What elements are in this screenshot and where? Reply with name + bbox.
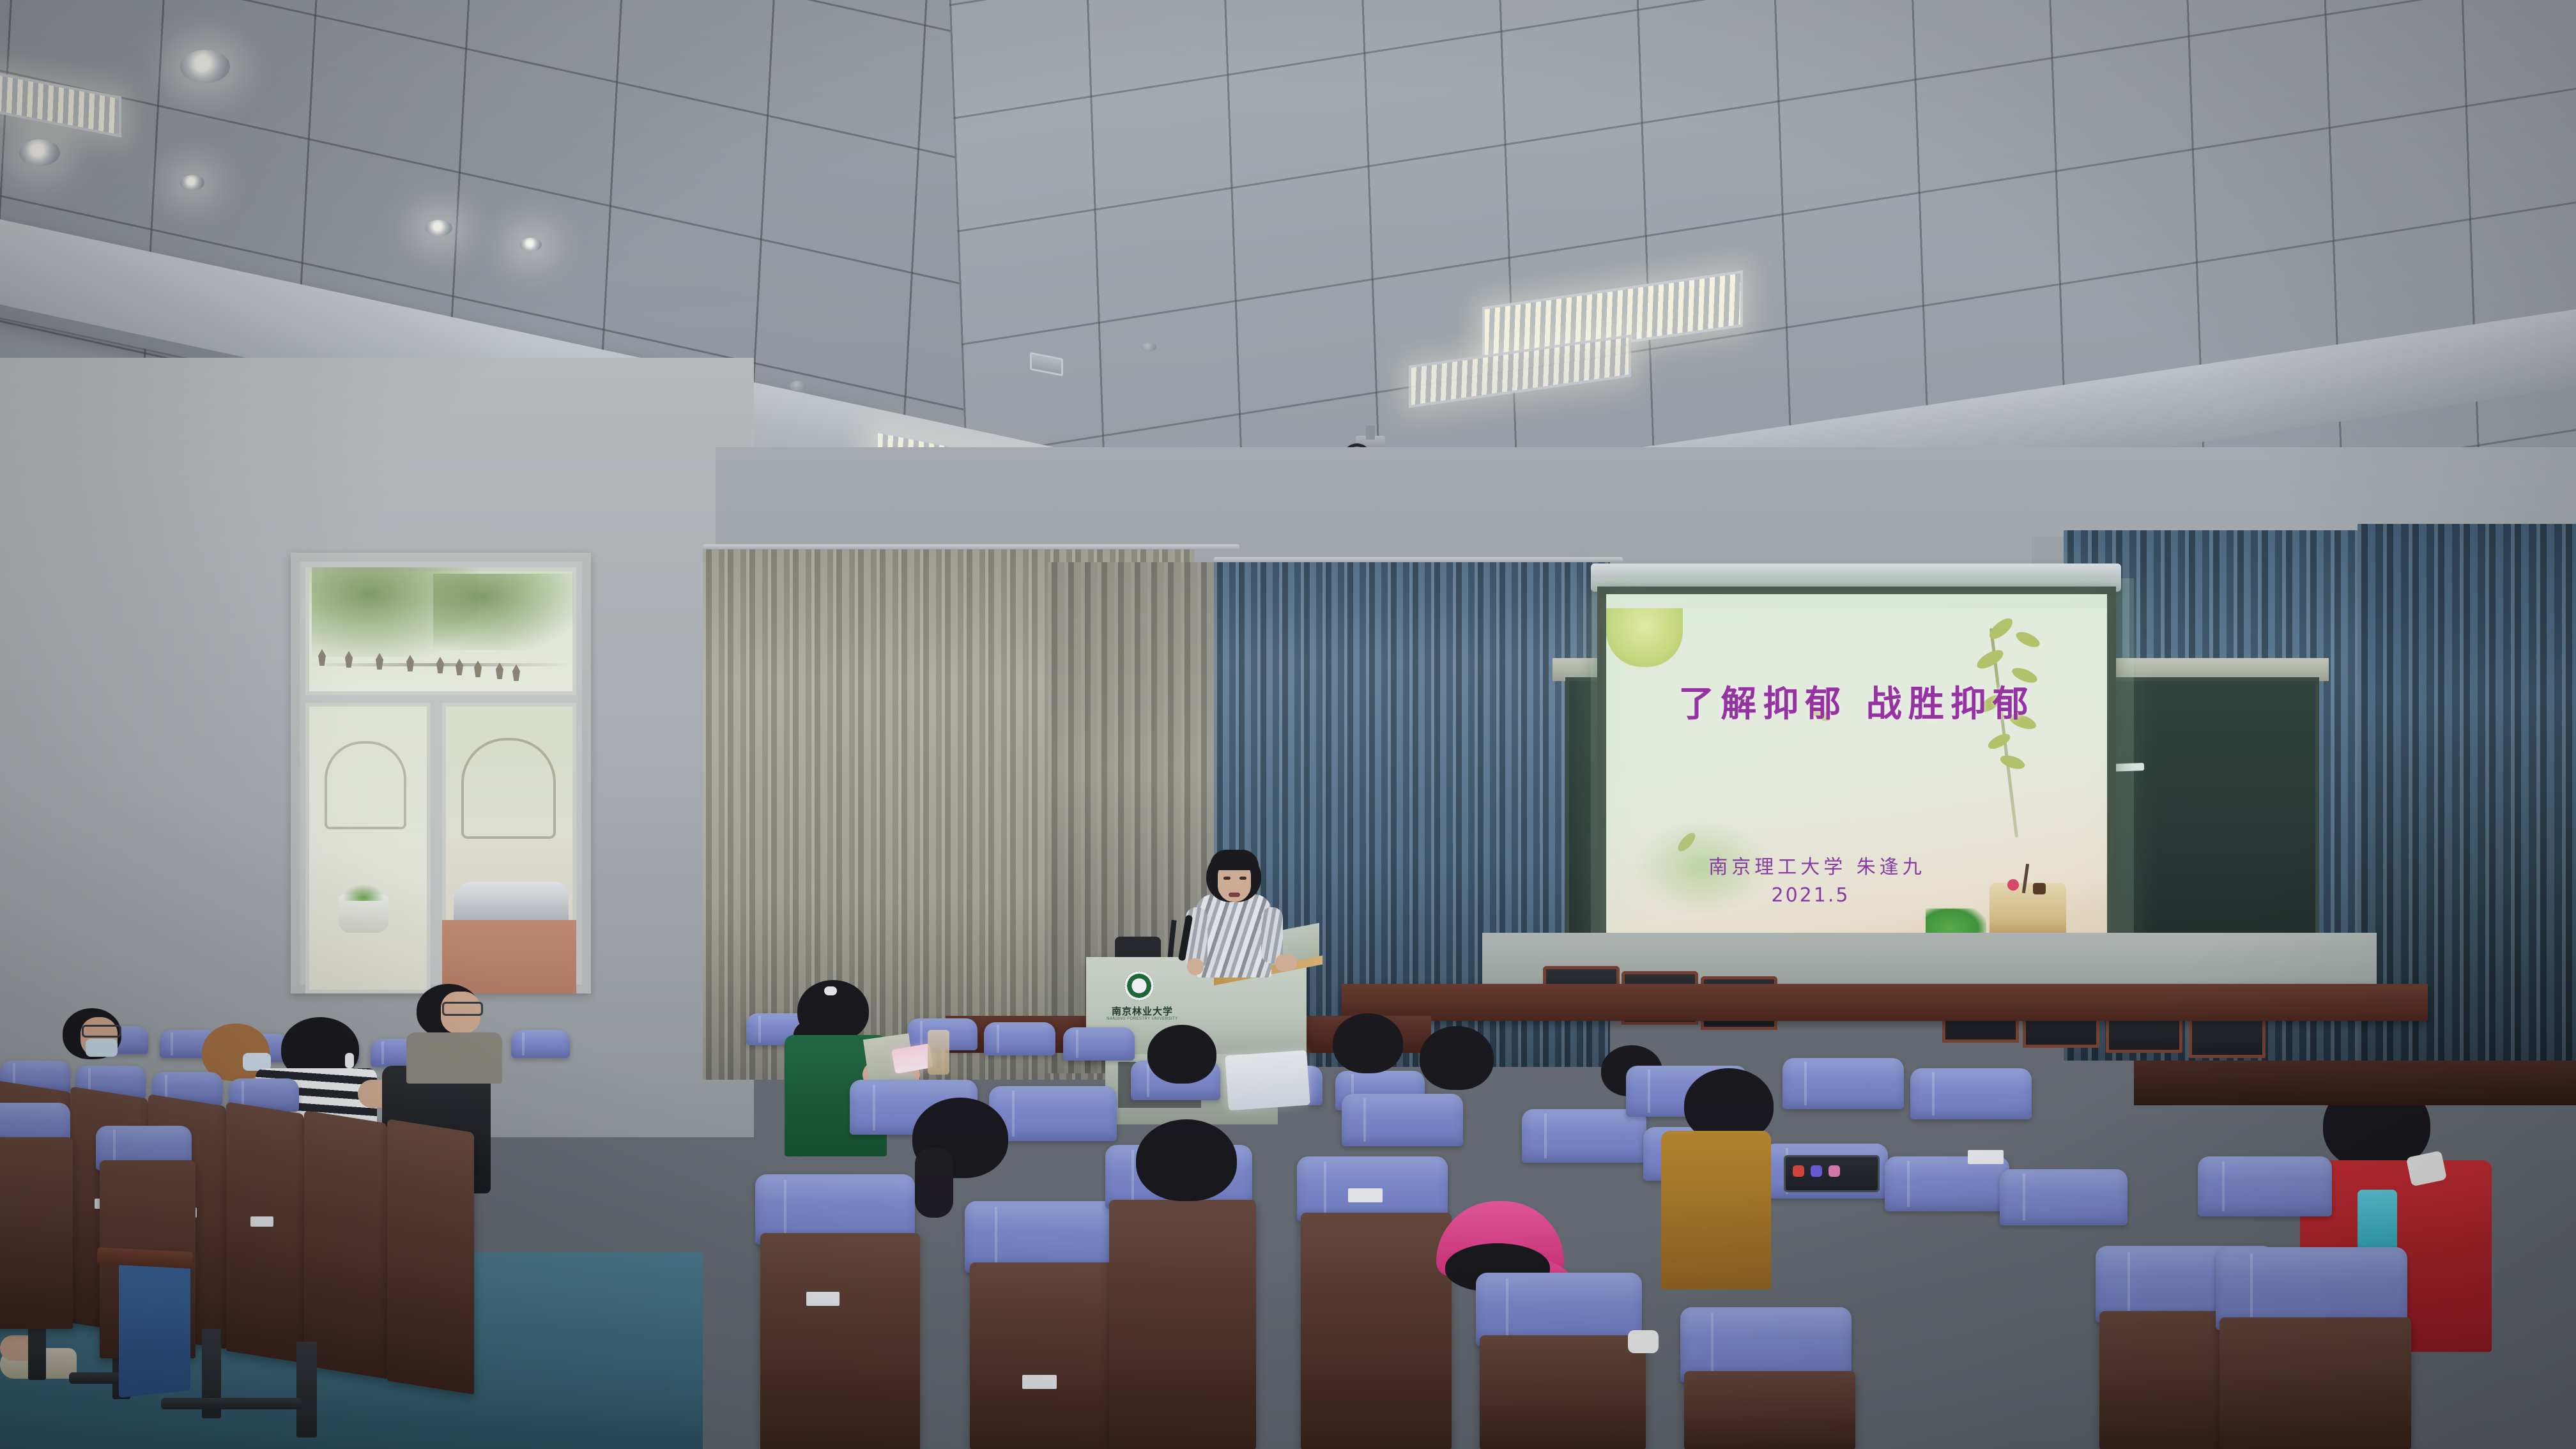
audience-torso: [406, 1032, 502, 1084]
grille-spike-icon: [406, 655, 414, 671]
tissue: [1628, 1330, 1659, 1353]
slide-leaf: [1974, 647, 2006, 672]
downlight-icon: [180, 175, 204, 190]
seat-pedestal: [161, 1398, 302, 1409]
seat-cushion[interactable]: [119, 1256, 190, 1398]
smoke-detector-icon: [1141, 342, 1156, 351]
grille-spike-icon: [512, 664, 520, 681]
seat-headrest-cover[interactable]: [989, 1086, 1117, 1141]
parked-car: [454, 882, 569, 923]
seat-number-label: [250, 1216, 273, 1227]
ponytail: [915, 1147, 953, 1218]
slide-date: 2021.5: [1606, 884, 2015, 907]
slide-leaf: [1998, 753, 2027, 771]
slide-canvas: 了解抑郁 战胜抑郁 南京理工大学 朱逢九 2021.5: [1606, 608, 2107, 958]
speaker-left-hand: [1187, 958, 1204, 975]
seat-headrest-cover[interactable]: [2000, 1169, 2127, 1225]
seat-headrest-cover[interactable]: [1782, 1058, 1904, 1109]
earbud-icon: [345, 1053, 354, 1068]
seat-back-foreground[interactable]: [0, 1137, 73, 1329]
projector-mount-arm: [1366, 425, 1375, 440]
slide-leaf: [1986, 731, 2012, 752]
eyeglasses-icon: [82, 1025, 121, 1038]
plant-leaves: [344, 884, 383, 901]
slide-teacup-image: [1606, 608, 1683, 667]
seat-headrest-cover[interactable]: [1910, 1068, 2032, 1119]
audience-head: [1136, 1119, 1237, 1201]
tablet-app-icon[interactable]: [1793, 1165, 1804, 1177]
slide-cake-choc: [2033, 883, 2046, 894]
seat-back[interactable]: [226, 1101, 304, 1363]
seat-back-foreground[interactable]: [1684, 1371, 1855, 1449]
tree-foliage: [433, 574, 574, 650]
university-seal-icon: [1124, 971, 1154, 1000]
seat-headrest-cover[interactable]: [984, 1022, 1055, 1055]
slide-organization: 南京理工大学 朱逢九: [1606, 851, 2028, 879]
seat-number-label: [1968, 1150, 2004, 1164]
university-name-cn: 南京林业大学: [1107, 1004, 1177, 1018]
seat-headrest-cover[interactable]: [2198, 1156, 2332, 1216]
speaker-hair-fringe: [1210, 850, 1259, 870]
grille-spike-icon: [436, 657, 444, 673]
smoke-detector-icon: [790, 381, 806, 391]
seat-headrest-cover[interactable]: [1063, 1027, 1135, 1061]
downlight-icon: [180, 50, 230, 83]
seat-back-foreground[interactable]: [1109, 1200, 1256, 1449]
seat-number-label: [1022, 1375, 1057, 1389]
speaker-right-hand: [1275, 954, 1297, 971]
audience-head: [1333, 1013, 1403, 1073]
seat-headrest-cover[interactable]: [1885, 1156, 2009, 1211]
grille-spike-icon: [456, 659, 463, 675]
seat-back-foreground[interactable]: [1301, 1213, 1452, 1449]
window-grille-scroll-icon: [325, 741, 406, 829]
seat-number-label: [1348, 1188, 1383, 1202]
seat-back[interactable]: [304, 1110, 387, 1379]
speaker-eye: [1223, 877, 1230, 880]
audience-head: [1147, 1025, 1216, 1084]
speaker-mouth: [1229, 893, 1240, 897]
downlight-icon: [19, 139, 60, 166]
slide-title: 了解抑郁 战胜抑郁: [1606, 675, 2107, 727]
downlight-icon: [425, 220, 452, 236]
window-pane-top: [305, 567, 576, 695]
seat-pedestal: [296, 1342, 317, 1437]
lecture-hall-photo: 了解抑郁 战胜抑郁 南京理工大学 朱逢九 2021.5 南京林业大学 NANJI…: [0, 0, 2576, 1449]
slide-leaf: [2014, 629, 2042, 650]
window-grille-scroll-icon: [461, 738, 556, 839]
audience-head: [1420, 1026, 1494, 1090]
tablet-app-icon[interactable]: [1811, 1165, 1822, 1177]
pavement: [442, 920, 576, 993]
tablet-app-icon[interactable]: [1828, 1165, 1840, 1177]
speaker-eye: [1239, 877, 1246, 880]
tablet-screen[interactable]: [1225, 1050, 1310, 1111]
projection-screen[interactable]: 了解抑郁 战胜抑郁 南京理工大学 朱逢九 2021.5: [1606, 594, 2107, 972]
seat-headrest-cover[interactable]: [1522, 1109, 1646, 1163]
seat-back-foreground[interactable]: [2219, 1317, 2411, 1449]
seat-headrest-cover[interactable]: [511, 1030, 570, 1058]
teal-water-bottle: [2357, 1190, 2397, 1251]
audience-torso-mustard: [1661, 1131, 1771, 1289]
seat-back-foreground[interactable]: [760, 1233, 920, 1449]
seat-back[interactable]: [387, 1119, 474, 1395]
hair-tie-icon: [824, 986, 837, 995]
downlight-icon: [520, 238, 542, 252]
window-pane-bottom-left: [305, 703, 431, 993]
stage-front-rail: [1342, 984, 2428, 1021]
window-pane-bottom-right: [442, 703, 576, 993]
seat-number-label: [806, 1292, 839, 1306]
face-mask-icon: [86, 1039, 118, 1057]
university-name-en: NANJING FORESTRY UNIVERSITY: [1104, 1017, 1181, 1021]
eyeglasses-icon: [442, 1002, 483, 1016]
water-bottle: [928, 1030, 949, 1075]
seat-headrest-cover[interactable]: [1342, 1094, 1463, 1146]
rear-wood-rail: [2134, 1061, 2576, 1105]
seat-back-foreground[interactable]: [1480, 1335, 1646, 1449]
